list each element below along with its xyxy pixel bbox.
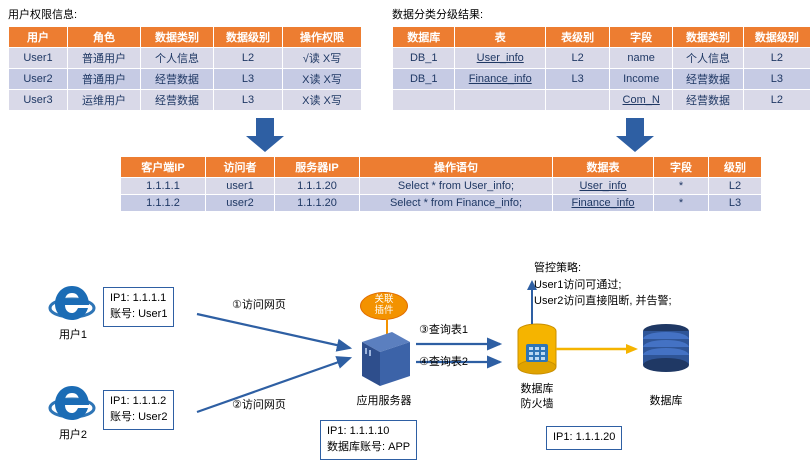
cell: 经营数据 xyxy=(141,69,214,90)
cell: User3 xyxy=(9,90,68,111)
th-data-category: 数据类别 xyxy=(141,27,214,48)
cell: Select * from Finance_info; xyxy=(360,195,553,212)
cell: 经营数据 xyxy=(673,90,744,111)
cell: L2 xyxy=(214,48,283,69)
cell: L3 xyxy=(214,69,283,90)
table-row: Com_N 经营数据 L2 xyxy=(393,90,811,111)
user1-ip: IP1: 1.1.1.1 xyxy=(110,291,167,307)
cell: User2 xyxy=(9,69,68,90)
app-server-account: 数据库账号: APP xyxy=(327,440,410,456)
classification-table: 数据库 表 表级别 字段 数据类别 数据级别 DB_1 User_info L2… xyxy=(392,26,811,111)
th-server-ip: 服务器IP xyxy=(275,157,360,178)
cell: 1.1.1.1 xyxy=(121,178,206,195)
database-icon xyxy=(638,322,694,382)
cell: user1 xyxy=(206,178,275,195)
right-table-caption: 数据分类分级结果: xyxy=(392,6,483,22)
cell: L2 xyxy=(743,48,810,69)
cell: L2 xyxy=(546,48,610,69)
cell: User1 xyxy=(9,48,68,69)
th-statement: 操作语句 xyxy=(360,157,553,178)
cell: 经营数据 xyxy=(673,69,744,90)
cell: 个人信息 xyxy=(141,48,214,69)
step4-label: ④查询表2 xyxy=(419,353,468,369)
policy-line-1: User1访问可通过; xyxy=(534,277,672,294)
th-data-category: 数据类别 xyxy=(673,27,744,48)
app-server-icon xyxy=(352,330,414,392)
table-row: DB_1 Finance_info L3 Income 经营数据 L3 xyxy=(393,69,811,90)
cell: 个人信息 xyxy=(673,48,744,69)
th-user: 用户 xyxy=(9,27,68,48)
cell: 普通用户 xyxy=(68,48,141,69)
user1-label: 用户1 xyxy=(50,326,96,342)
cell: L3 xyxy=(709,195,762,212)
db-label: 数据库 xyxy=(634,392,698,408)
cell: Income xyxy=(610,69,673,90)
th-operation: 操作权限 xyxy=(283,27,362,48)
cell: L3 xyxy=(214,90,283,111)
cell: DB_1 xyxy=(393,48,455,69)
cell: L2 xyxy=(709,178,762,195)
user1-info-box: IP1: 1.1.1.1 账号: User1 xyxy=(103,287,174,327)
th-table: 表 xyxy=(455,27,546,48)
policy-title: 管控策略: xyxy=(534,260,672,277)
cell: user2 xyxy=(206,195,275,212)
cell: X读 X写 xyxy=(283,69,362,90)
internet-explorer-icon xyxy=(48,382,96,424)
th-field: 字段 xyxy=(654,157,709,178)
firewall-label: 数据库 防火墙 xyxy=(500,382,574,412)
user2-label: 用户2 xyxy=(50,426,96,442)
th-database: 数据库 xyxy=(393,27,455,48)
cell xyxy=(393,90,455,111)
th-data-table: 数据表 xyxy=(553,157,654,178)
cell: * xyxy=(654,195,709,212)
cell: L3 xyxy=(546,69,610,90)
cell: 普通用户 xyxy=(68,69,141,90)
th-data-level: 数据级别 xyxy=(743,27,810,48)
step3-label: ③查询表1 xyxy=(419,321,468,337)
app-server-info-box: IP1: 1.1.1.10 数据库账号: APP xyxy=(320,420,417,460)
table-header-row: 客户端IP 访问者 服务器IP 操作语句 数据表 字段 级别 xyxy=(121,157,762,178)
cell: L3 xyxy=(743,69,810,90)
table-row: User1 普通用户 个人信息 L2 √读 X写 xyxy=(9,48,362,69)
app-server-label: 应用服务器 xyxy=(344,392,424,408)
firewall-to-db-arrow xyxy=(556,340,642,358)
cell: User_info xyxy=(553,178,654,195)
firewall-label-line2: 防火墙 xyxy=(500,397,574,412)
internet-explorer-icon xyxy=(48,282,96,324)
app-server-ip: IP1: 1.1.1.10 xyxy=(327,424,410,440)
arrow-step1 xyxy=(197,314,350,348)
plugin-badge: 关联 插件 xyxy=(360,292,408,320)
cell: User_info xyxy=(455,48,546,69)
cell: 1.1.1.20 xyxy=(275,195,360,212)
database-firewall-icon xyxy=(514,322,560,380)
table-row: User2 普通用户 经营数据 L3 X读 X写 xyxy=(9,69,362,90)
table-row: DB_1 User_info L2 name 个人信息 L2 xyxy=(393,48,811,69)
cell xyxy=(546,90,610,111)
arrow-down-right xyxy=(614,118,658,154)
cell xyxy=(455,90,546,111)
user2-account: 账号: User2 xyxy=(110,410,167,426)
cell: * xyxy=(654,178,709,195)
cell: DB_1 xyxy=(393,69,455,90)
th-client-ip: 客户端IP xyxy=(121,157,206,178)
th-table-level: 表级别 xyxy=(546,27,610,48)
cell: name xyxy=(610,48,673,69)
step2-label: ②访问网页 xyxy=(232,396,286,412)
left-table-caption: 用户权限信息: xyxy=(8,6,77,22)
table-row: 1.1.1.1 user1 1.1.1.20 Select * from Use… xyxy=(121,178,762,195)
th-level: 级别 xyxy=(709,157,762,178)
th-data-level: 数据级别 xyxy=(214,27,283,48)
cell: √读 X写 xyxy=(283,48,362,69)
permission-table: 用户 角色 数据类别 数据级别 操作权限 User1 普通用户 个人信息 L2 … xyxy=(8,26,362,111)
cell: L2 xyxy=(743,90,810,111)
table-row: 1.1.1.2 user2 1.1.1.20 Select * from Fin… xyxy=(121,195,762,212)
cell: 1.1.1.20 xyxy=(275,178,360,195)
cell: Finance_info xyxy=(455,69,546,90)
user2-info-box: IP1: 1.1.1.2 账号: User2 xyxy=(103,390,174,430)
audit-table: 客户端IP 访问者 服务器IP 操作语句 数据表 字段 级别 1.1.1.1 u… xyxy=(120,156,762,212)
policy-line-2: User2访问直接阻断, 并告警; xyxy=(534,293,672,310)
cell: 运维用户 xyxy=(68,90,141,111)
user1-account: 账号: User1 xyxy=(110,307,167,323)
plugin-line2: 插件 xyxy=(374,306,393,317)
user2-ip: IP1: 1.1.1.2 xyxy=(110,394,167,410)
db-ip: IP1: 1.1.1.20 xyxy=(553,430,615,446)
cell: 经营数据 xyxy=(141,90,214,111)
cell: Com_N xyxy=(610,90,673,111)
th-visitor: 访问者 xyxy=(206,157,275,178)
table-header-row: 数据库 表 表级别 字段 数据类别 数据级别 xyxy=(393,27,811,48)
db-info-box: IP1: 1.1.1.20 xyxy=(546,426,622,450)
firewall-label-line1: 数据库 xyxy=(500,382,574,397)
table-row: User3 运维用户 经营数据 L3 X读 X写 xyxy=(9,90,362,111)
th-role: 角色 xyxy=(68,27,141,48)
cell: Select * from User_info; xyxy=(360,178,553,195)
step1-label: ①访问网页 xyxy=(232,296,286,312)
cell: 1.1.1.2 xyxy=(121,195,206,212)
policy-callout: 管控策略: User1访问可通过; User2访问直接阻断, 并告警; xyxy=(534,260,672,310)
cell: Finance_info xyxy=(553,195,654,212)
cell: X读 X写 xyxy=(283,90,362,111)
table-header-row: 用户 角色 数据类别 数据级别 操作权限 xyxy=(9,27,362,48)
th-field: 字段 xyxy=(610,27,673,48)
arrow-down-left xyxy=(244,118,288,154)
